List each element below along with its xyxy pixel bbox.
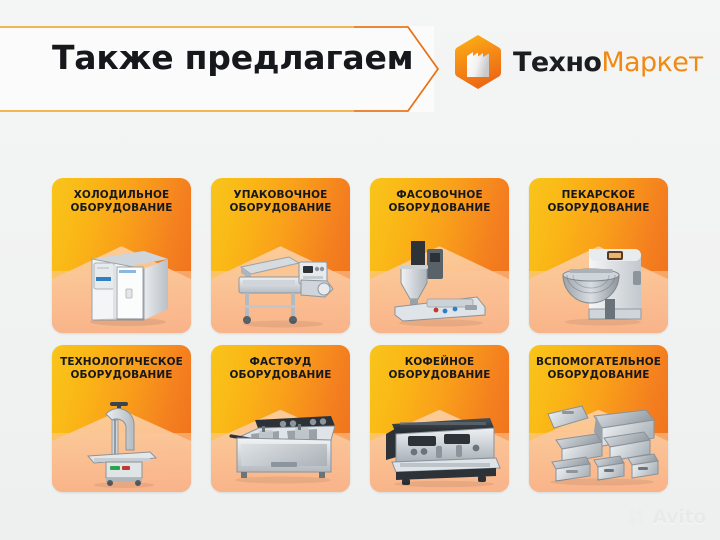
category-tile-packaging-equipment[interactable]: УПАКОВОЧНОЕ ОБОРУДОВАНИЕ — [211, 178, 350, 333]
gastronorm-pans-icon — [529, 393, 668, 488]
espresso-machine-icon — [370, 393, 509, 488]
category-tile-label: ХОЛОДИЛЬНОЕ ОБОРУДОВАНИЕ — [58, 189, 185, 216]
poster-canvas: Также предлагаем ТехноМаркет — [0, 0, 720, 540]
label-line-1: КОФЕЙНОЕ — [376, 356, 503, 369]
brand-word-tehno: Техно — [513, 47, 601, 78]
category-tile-label: КОФЕЙНОЕ ОБОРУДОВАНИЕ — [376, 356, 503, 383]
category-tile-bakery-equipment[interactable]: ПЕКАРСКОЕ ОБОРУДОВАНИЕ — [529, 178, 668, 333]
category-grid: ХОЛОДИЛЬНОЕ ОБОРУДОВАНИЕ — [52, 178, 668, 492]
category-tile-technological-equipment[interactable]: ТЕХНОЛОГИЧЕСКОЕ ОБОРУДОВАНИЕ — [52, 345, 191, 492]
label-line-2: ОБОРУДОВАНИЕ — [535, 369, 662, 382]
packaging-machine-icon — [211, 230, 350, 329]
category-tile-auxiliary-equipment[interactable]: ВСПОМОГАТЕЛЬНОЕ ОБОРУДОВАНИЕ — [529, 345, 668, 492]
avito-watermark: Avito — [627, 506, 706, 528]
category-tile-label: ПЕКАРСКОЕ ОБОРУДОВАНИЕ — [535, 189, 662, 216]
page-title: Также предлагаем — [52, 38, 413, 77]
category-tile-fastfood-equipment[interactable]: ФАСТФУД ОБОРУДОВАНИЕ — [211, 345, 350, 492]
label-line-1: ТЕХНОЛОГИЧЕСКОЕ — [58, 356, 185, 369]
band-saw-icon — [52, 393, 191, 488]
brand-word-market: Маркет — [601, 47, 703, 78]
label-line-1: ВСПОМОГАТЕЛЬНОЕ — [535, 356, 662, 369]
category-tile-label: ФАСТФУД ОБОРУДОВАНИЕ — [217, 356, 344, 383]
category-tile-label: ТЕХНОЛОГИЧЕСКОЕ ОБОРУДОВАНИЕ — [58, 356, 185, 383]
label-line-2: ОБОРУДОВАНИЕ — [58, 369, 185, 382]
label-line-1: УПАКОВОЧНОЕ — [217, 189, 344, 202]
label-line-2: ОБОРУДОВАНИЕ — [217, 369, 344, 382]
hexagon-factory-icon — [452, 33, 504, 91]
label-line-2: ОБОРУДОВАНИЕ — [535, 202, 662, 215]
label-line-1: ПЕКАРСКОЕ — [535, 189, 662, 202]
category-tile-filling-equipment[interactable]: ФАСОВОЧНОЕ ОБОРУДОВАНИЕ — [370, 178, 509, 333]
category-tile-cold-equipment[interactable]: ХОЛОДИЛЬНОЕ ОБОРУДОВАНИЕ — [52, 178, 191, 333]
label-line-2: ОБОРУДОВАНИЕ — [58, 202, 185, 215]
category-tile-label: ФАСОВОЧНОЕ ОБОРУДОВАНИЕ — [376, 189, 503, 216]
brand-logo: ТехноМаркет — [452, 33, 703, 91]
label-line-2: ОБОРУДОВАНИЕ — [376, 202, 503, 215]
avito-watermark-text: Avito — [652, 506, 706, 528]
cold-room-icon — [52, 230, 191, 329]
label-line-1: ФАСОВОЧНОЕ — [376, 189, 503, 202]
deep-fryer-icon — [211, 393, 350, 488]
avito-dots-icon — [627, 508, 647, 526]
dough-mixer-icon — [529, 230, 668, 329]
label-line-1: ХОЛОДИЛЬНОЕ — [58, 189, 185, 202]
brand-wordmark: ТехноМаркет — [513, 49, 703, 76]
category-tile-label: ВСПОМОГАТЕЛЬНОЕ ОБОРУДОВАНИЕ — [535, 356, 662, 383]
label-line-2: ОБОРУДОВАНИЕ — [376, 369, 503, 382]
filling-machine-icon — [370, 230, 509, 329]
category-tile-label: УПАКОВОЧНОЕ ОБОРУДОВАНИЕ — [217, 189, 344, 216]
label-line-2: ОБОРУДОВАНИЕ — [217, 202, 344, 215]
category-tile-coffee-equipment[interactable]: КОФЕЙНОЕ ОБОРУДОВАНИЕ — [370, 345, 509, 492]
label-line-1: ФАСТФУД — [217, 356, 344, 369]
